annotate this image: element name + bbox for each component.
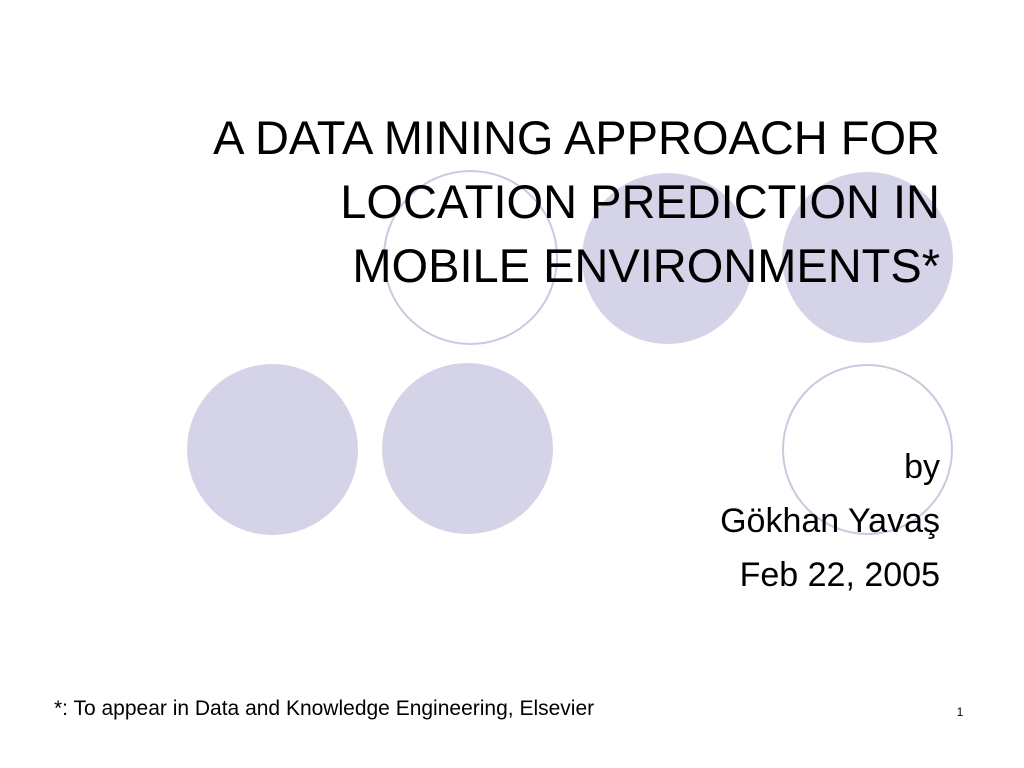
slide-number: 1 [948, 704, 972, 720]
title-line-2: LOCATION PREDICTION IN [86, 170, 940, 234]
slide-content: A DATA MINING APPROACH FOR LOCATION PRED… [0, 0, 1024, 768]
presentation-slide: A DATA MINING APPROACH FOR LOCATION PRED… [0, 0, 1024, 768]
title-line-3: MOBILE ENVIRONMENTS* [86, 234, 940, 298]
author-byline: by Gökhan Yavaş Feb 22, 2005 [560, 440, 940, 602]
author-name: Gökhan Yavaş [560, 494, 940, 548]
title-line-1: A DATA MINING APPROACH FOR [86, 106, 940, 170]
presentation-date: Feb 22, 2005 [560, 548, 940, 602]
slide-title: A DATA MINING APPROACH FOR LOCATION PRED… [86, 106, 940, 298]
footnote-text: *: To appear in Data and Knowledge Engin… [54, 696, 594, 722]
byline-label-by: by [560, 440, 940, 494]
